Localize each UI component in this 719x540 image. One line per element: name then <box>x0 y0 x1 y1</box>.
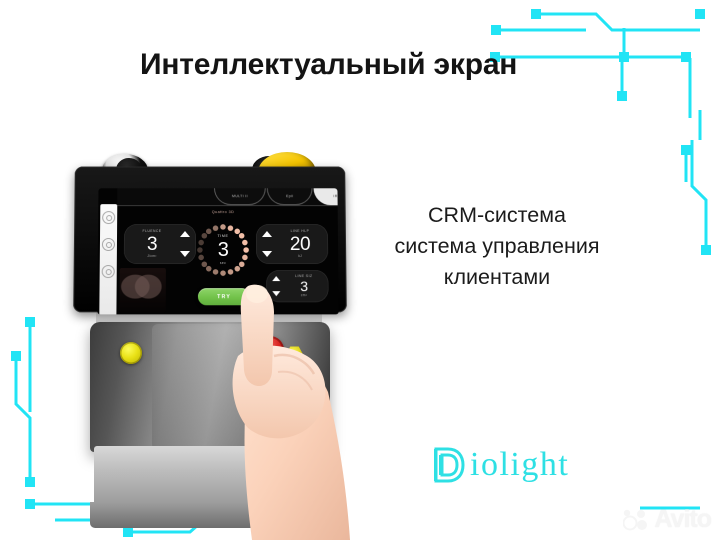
dial-title: Quattro 3D <box>190 210 256 214</box>
settings-icon <box>102 211 115 224</box>
avito-dots-icon <box>623 509 649 531</box>
line-help-stepper[interactable] <box>259 231 275 257</box>
time-label: TIME <box>217 235 228 239</box>
chevron-down-icon[interactable] <box>262 251 272 257</box>
fluence-unit: J/cm² <box>127 255 177 258</box>
line-help-readout: LINE HLP 20 kJ <box>275 230 325 258</box>
refresh-icon <box>102 238 115 251</box>
avito-label: Avito <box>654 507 711 532</box>
tab-ir[interactable]: IR <box>314 188 339 205</box>
rail-item-info[interactable] <box>102 265 115 278</box>
tab-epil[interactable]: Epil <box>267 188 313 205</box>
line-help-value: 20 <box>275 235 325 254</box>
screen-tab-strip: MULTI II Epil IR <box>117 188 337 206</box>
rail-item-menu[interactable] <box>102 211 115 224</box>
avito-watermark: Avito <box>623 507 711 532</box>
laser-device: MULTI II Epil IR FLUENCE 3 J/cm² <box>60 150 360 540</box>
anatomy-thumbnail <box>119 268 165 312</box>
line-help-unit: kJ <box>275 255 325 258</box>
copy-line-1: CRM-система <box>352 200 642 231</box>
screen-side-rail <box>99 204 117 314</box>
poster-canvas: Интеллектуальный экран CRM-система систе… <box>0 0 719 540</box>
brand-name: iolight <box>470 448 569 482</box>
diolight-d-icon <box>432 445 466 485</box>
chevron-down-icon[interactable] <box>180 251 190 257</box>
rail-item-sync[interactable] <box>102 238 115 251</box>
chevron-up-icon[interactable] <box>180 231 190 237</box>
panel-line-help[interactable]: LINE HLP 20 kJ <box>256 224 328 264</box>
chevron-up-icon[interactable] <box>262 231 272 237</box>
tab-multi[interactable]: MULTI II <box>214 188 266 205</box>
panel-fluence[interactable]: FLUENCE 3 J/cm² <box>124 224 196 264</box>
page-title: Интеллектуальный экран <box>140 48 517 82</box>
power-icon <box>102 265 115 278</box>
copy-line-3: клиентами <box>352 262 642 293</box>
copy-line-2: система управления <box>352 231 642 262</box>
fluence-value: 3 <box>127 235 177 254</box>
time-value: 3 <box>218 240 229 260</box>
feature-description: CRM-система система управления клиентами <box>352 200 642 293</box>
yellow-button[interactable] <box>120 342 142 364</box>
brand-logo: iolight <box>432 445 569 485</box>
pointing-hand <box>178 260 368 540</box>
fluence-readout: FLUENCE 3 J/cm² <box>127 230 177 258</box>
